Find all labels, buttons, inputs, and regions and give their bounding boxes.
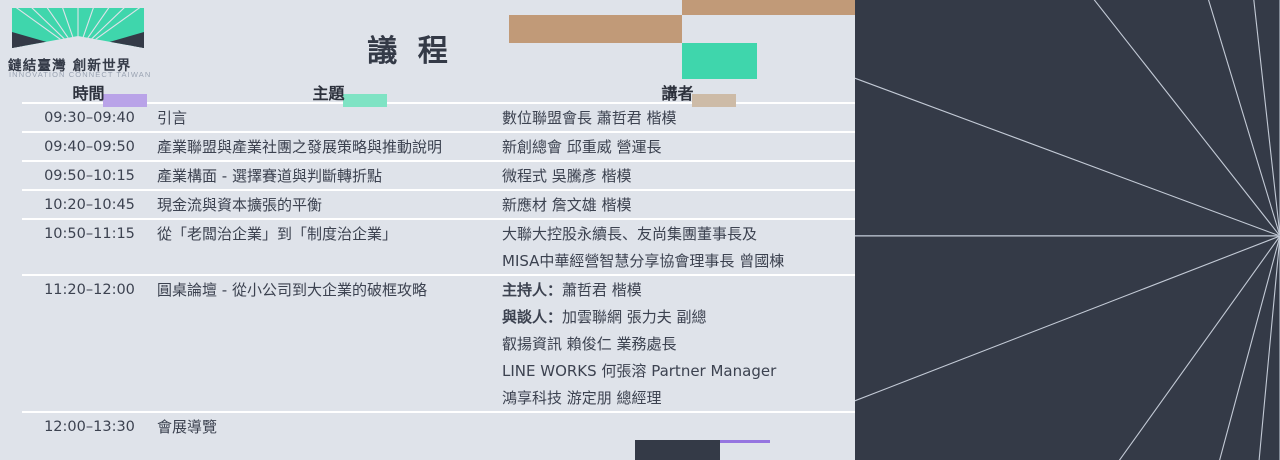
speaker-text: 叡揚資訊 賴俊仁 業務處長 — [502, 330, 855, 357]
topic-text: 圓桌論壇 - 從小公司到大企業的破框攻略 — [157, 276, 502, 303]
speaker-role-label: 主持人： — [502, 281, 562, 299]
cell-topic: 產業聯盟與產業社團之發展策略與推動說明 — [157, 133, 502, 160]
cell-topic: 引言 — [157, 104, 502, 131]
speaker-text: 主持人：蕭哲君 楷模 — [502, 276, 855, 303]
table-row[interactable]: 09:40–09:50產業聯盟與產業社團之發展策略與推動說明新創總會 邱重威 營… — [22, 133, 855, 160]
time-text: 11:20–12:00 — [22, 276, 157, 303]
cell-speaker: 數位聯盟會長 蕭哲君 楷模 — [502, 104, 855, 131]
cell-time: 09:30–09:40 — [22, 104, 157, 131]
topic-header-highlight — [343, 94, 387, 107]
speaker-text: MISA中華經營智慧分享協會理事長 曾國棟 — [502, 247, 855, 274]
cell-speaker: 主持人：蕭哲君 楷模與談人：加雲聯網 張力夫 副總叡揚資訊 賴俊仁 業務處長LI… — [502, 276, 855, 411]
speaker-text — [502, 413, 855, 440]
speaker-header-highlight — [692, 94, 736, 107]
agenda-table-header-row: 時間 主題 講者 — [22, 82, 855, 102]
cell-speaker: 新創總會 邱重威 營運長 — [502, 133, 855, 160]
cell-speaker: 新應材 詹文雄 楷模 — [502, 191, 855, 218]
cell-topic: 現金流與資本擴張的平衡 — [157, 191, 502, 218]
cell-time: 12:00–13:30 — [22, 413, 157, 440]
cell-topic: 圓桌論壇 - 從小公司到大企業的破框攻略 — [157, 276, 502, 303]
topic-text: 從「老闆治企業」到「制度治企業」 — [157, 220, 502, 247]
brand-name-en: INNOVATION CONNECT TAIWAN — [9, 70, 159, 79]
cell-time: 10:20–10:45 — [22, 191, 157, 218]
column-header-time: 時間 — [22, 80, 157, 104]
time-text: 10:50–11:15 — [22, 220, 157, 247]
table-row[interactable]: 10:50–11:15從「老闆治企業」到「制度治企業」大聯大控股永續長、友尚集團… — [22, 220, 855, 274]
cell-speaker: 大聯大控股永續長、友尚集團董事長及MISA中華經營智慧分享協會理事長 曾國棟 — [502, 220, 855, 274]
speaker-text: LINE WORKS 何張溶 Partner Manager — [502, 357, 855, 384]
dark-rays-panel — [855, 0, 1280, 460]
speaker-text: 鴻享科技 游定朋 總經理 — [502, 384, 855, 411]
green-block-decoration — [682, 43, 757, 79]
table-row[interactable]: 12:00–13:30會展導覽 — [22, 413, 855, 440]
topic-text: 引言 — [157, 104, 502, 131]
time-text: 09:30–09:40 — [22, 104, 157, 131]
tan-block-top-decoration — [682, 0, 855, 15]
column-header-topic: 主題 — [157, 80, 502, 104]
tan-block-middle-decoration — [509, 15, 682, 43]
time-header-highlight — [103, 94, 147, 107]
agenda-table-body: 09:30–09:40引言數位聯盟會長 蕭哲君 楷模09:40–09:50產業聯… — [22, 102, 855, 440]
agenda-slide: 鏈結臺灣 創新世界 INNOVATION CONNECT TAIWAN 議 程 … — [0, 0, 1280, 460]
dark-block-bottom-decoration — [635, 440, 720, 460]
speaker-text: 數位聯盟會長 蕭哲君 楷模 — [502, 104, 855, 131]
cell-speaker — [502, 413, 855, 440]
speaker-text: 大聯大控股永續長、友尚集團董事長及 — [502, 220, 855, 247]
cell-topic: 產業構面 - 選擇賽道與判斷轉折點 — [157, 162, 502, 189]
speaker-text: 新應材 詹文雄 楷模 — [502, 191, 855, 218]
topic-text: 產業聯盟與產業社團之發展策略與推動說明 — [157, 133, 502, 160]
time-text: 09:50–10:15 — [22, 162, 157, 189]
cell-time: 11:20–12:00 — [22, 276, 157, 303]
cell-speaker: 微程式 吳騰彥 楷模 — [502, 162, 855, 189]
table-row[interactable]: 11:20–12:00圓桌論壇 - 從小公司到大企業的破框攻略主持人：蕭哲君 楷… — [22, 276, 855, 411]
table-row[interactable]: 09:50–10:15產業構面 - 選擇賽道與判斷轉折點微程式 吳騰彥 楷模 — [22, 162, 855, 189]
dark-panel-divider — [855, 235, 1280, 236]
speaker-text: 新創總會 邱重威 營運長 — [502, 133, 855, 160]
topic-text: 現金流與資本擴張的平衡 — [157, 191, 502, 218]
topic-text: 會展導覽 — [157, 413, 502, 440]
time-text: 12:00–13:30 — [22, 413, 157, 440]
time-text: 09:40–09:50 — [22, 133, 157, 160]
speaker-role-label: 與談人： — [502, 308, 562, 326]
table-row[interactable]: 10:20–10:45現金流與資本擴張的平衡新應材 詹文雄 楷模 — [22, 191, 855, 218]
cell-topic: 從「老闆治企業」到「制度治企業」 — [157, 220, 502, 247]
speaker-text: 微程式 吳騰彥 楷模 — [502, 162, 855, 189]
cell-time: 09:50–10:15 — [22, 162, 157, 189]
cell-time: 10:50–11:15 — [22, 220, 157, 247]
agenda-table: 時間 主題 講者 09:30–09:40引言數位聯盟會長 蕭哲君 楷模09:40… — [22, 82, 855, 440]
table-row[interactable]: 09:30–09:40引言數位聯盟會長 蕭哲君 楷模 — [22, 104, 855, 131]
speaker-text: 與談人：加雲聯網 張力夫 副總 — [502, 303, 855, 330]
topic-text: 產業構面 - 選擇賽道與判斷轉折點 — [157, 162, 502, 189]
cell-topic: 會展導覽 — [157, 413, 502, 440]
time-text: 10:20–10:45 — [22, 191, 157, 218]
cell-time: 09:40–09:50 — [22, 133, 157, 160]
page-title: 議 程 — [300, 26, 520, 70]
column-header-speaker: 講者 — [502, 80, 855, 104]
